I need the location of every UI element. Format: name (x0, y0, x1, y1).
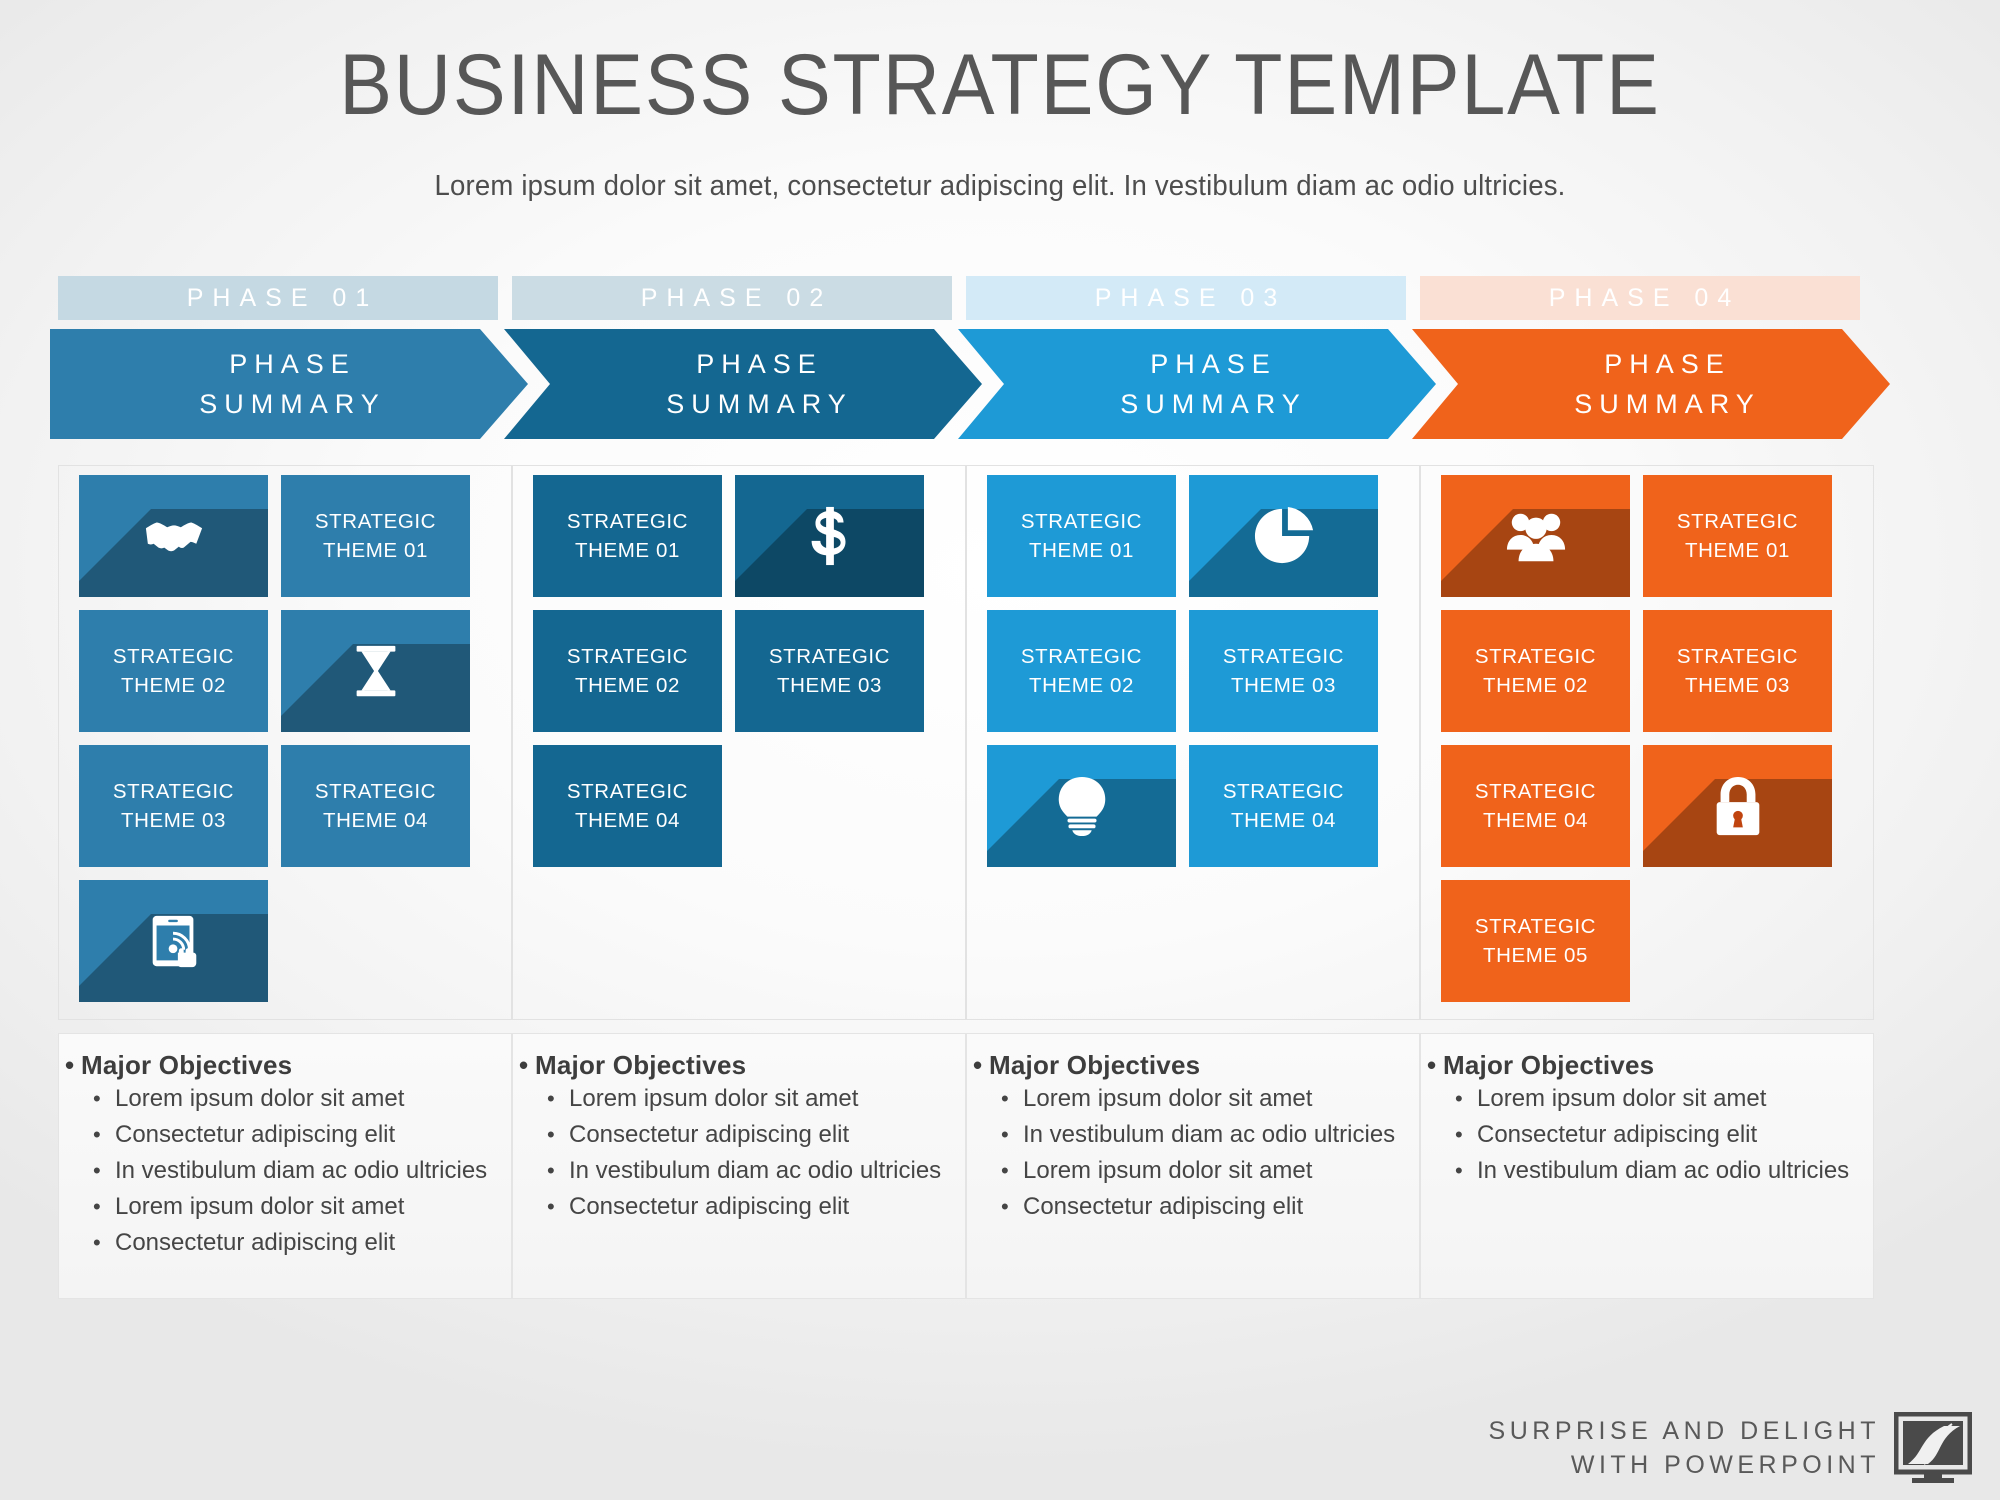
strategic-theme-label: STRATEGICTHEME 04 (567, 777, 688, 835)
objective-item: Lorem ipsum dolor sit amet (59, 1083, 511, 1119)
strategic-theme-tile[interactable]: STRATEGICTHEME 04 (1441, 745, 1630, 867)
tablet-touch-icon[interactable] (79, 880, 268, 1002)
phase-summary-arrow-2[interactable]: PHASESUMMARY (504, 329, 982, 439)
strategic-theme-label: STRATEGICTHEME 02 (113, 642, 234, 700)
strategic-theme-label: STRATEGICTHEME 04 (1475, 777, 1596, 835)
strategic-theme-label: STRATEGICTHEME 02 (567, 642, 688, 700)
phase-summary-line-1: PHASE (659, 344, 853, 384)
strategic-theme-label: STRATEGICTHEME 01 (1021, 507, 1142, 565)
strategic-theme-label: STRATEGICTHEME 04 (315, 777, 436, 835)
strategic-theme-label: STRATEGICTHEME 02 (1021, 642, 1142, 700)
lightbulb-icon-glyph (1046, 775, 1118, 837)
phase-band: PHASE 01PHASESUMMARYPHASE 02PHASESUMMARY… (0, 276, 2000, 466)
handshake-icon-glyph (138, 505, 210, 567)
phase-label-4[interactable]: PHASE 04 (1420, 276, 1860, 320)
objectives-title: Major Objectives (1421, 1034, 1873, 1083)
footer-line-2: WITH POWERPOINT (1489, 1448, 1880, 1482)
phase-column-4: PHASE 04PHASESUMMARY (1420, 276, 1860, 320)
strategic-theme-label: STRATEGICTHEME 01 (315, 507, 436, 565)
objectives-panel-4: Major ObjectivesLorem ipsum dolor sit am… (1420, 1033, 1874, 1299)
monitor-road-logo-icon (1894, 1412, 1972, 1484)
phase-label-1[interactable]: PHASE 01 (58, 276, 498, 320)
objective-item: Consectetur adipiscing elit (967, 1191, 1419, 1227)
phase-summary-line-2: SUMMARY (192, 384, 386, 424)
objective-item: In vestibulum diam ac odio ultricies (1421, 1155, 1873, 1191)
phase-column-3: PHASE 03PHASESUMMARY (966, 276, 1406, 320)
strategic-theme-label: STRATEGICTHEME 05 (1475, 912, 1596, 970)
objective-item: Consectetur adipiscing elit (513, 1191, 965, 1227)
theme-tile-grid-3: STRATEGICTHEME 01 STRATEGICTHEME 02STRAT… (987, 475, 1399, 1010)
page-title: BUSINESS STRATEGY TEMPLATE (80, 36, 1920, 135)
phase-label-2[interactable]: PHASE 02 (512, 276, 952, 320)
objective-item: In vestibulum diam ac odio ultricies (513, 1155, 965, 1191)
footer-text: SURPRISE AND DELIGHT WITH POWERPOINT (1489, 1414, 1880, 1482)
dollar-icon[interactable] (735, 475, 924, 597)
strategic-theme-label: STRATEGICTHEME 03 (769, 642, 890, 700)
objective-item: Lorem ipsum dolor sit amet (967, 1155, 1419, 1191)
hourglass-icon-glyph (340, 640, 412, 702)
strategic-theme-label: STRATEGICTHEME 03 (113, 777, 234, 835)
strategic-theme-tile[interactable]: STRATEGICTHEME 01 (281, 475, 470, 597)
footer-line-1: SURPRISE AND DELIGHT (1489, 1414, 1880, 1448)
people-group-icon[interactable] (1441, 475, 1630, 597)
strategic-theme-tile[interactable]: STRATEGICTHEME 05 (1441, 880, 1630, 1002)
strategic-theme-label: STRATEGICTHEME 01 (567, 507, 688, 565)
people-group-icon-glyph (1500, 505, 1572, 567)
strategic-theme-tile[interactable]: STRATEGICTHEME 04 (1189, 745, 1378, 867)
theme-tile-grid-2: STRATEGICTHEME 01 STRATEGICTHEME 02STRAT… (533, 475, 945, 1010)
objectives-panel-1: Major ObjectivesLorem ipsum dolor sit am… (58, 1033, 512, 1299)
strategic-theme-label: STRATEGICTHEME 03 (1677, 642, 1798, 700)
footer-branding: SURPRISE AND DELIGHT WITH POWERPOINT (1489, 1412, 1972, 1484)
theme-tile-grid-4: STRATEGICTHEME 01STRATEGICTHEME 02STRATE… (1441, 475, 1853, 1010)
handshake-icon[interactable] (79, 475, 268, 597)
objective-item: In vestibulum diam ac odio ultricies (59, 1155, 511, 1191)
phase-label-3[interactable]: PHASE 03 (966, 276, 1406, 320)
objectives-panel-2: Major ObjectivesLorem ipsum dolor sit am… (512, 1033, 966, 1299)
lightbulb-icon[interactable] (987, 745, 1176, 867)
theme-tile-grid-1: STRATEGICTHEME 01STRATEGICTHEME 02 STRAT… (79, 475, 491, 1010)
strategic-theme-tile[interactable]: STRATEGICTHEME 04 (281, 745, 470, 867)
strategic-theme-tile[interactable]: STRATEGICTHEME 03 (735, 610, 924, 732)
pie-chart-icon[interactable] (1189, 475, 1378, 597)
strategic-theme-tile[interactable]: STRATEGICTHEME 02 (1441, 610, 1630, 732)
objective-item: Lorem ipsum dolor sit amet (1421, 1083, 1873, 1119)
strategic-theme-tile[interactable]: STRATEGICTHEME 01 (1643, 475, 1832, 597)
hourglass-icon[interactable] (281, 610, 470, 732)
phase-summary-line-1: PHASE (1113, 344, 1307, 384)
strategic-theme-tile[interactable]: STRATEGICTHEME 01 (987, 475, 1176, 597)
strategic-theme-tile[interactable]: STRATEGICTHEME 01 (533, 475, 722, 597)
objectives-panel-3: Major ObjectivesLorem ipsum dolor sit am… (966, 1033, 1420, 1299)
strategic-theme-label: STRATEGICTHEME 03 (1223, 642, 1344, 700)
lock-icon-glyph (1702, 775, 1774, 837)
strategic-theme-tile[interactable]: STRATEGICTHEME 02 (533, 610, 722, 732)
objective-item: Consectetur adipiscing elit (513, 1119, 965, 1155)
phase-summary-line-1: PHASE (192, 344, 386, 384)
strategic-theme-tile[interactable]: STRATEGICTHEME 02 (79, 610, 268, 732)
pie-chart-icon-glyph (1248, 505, 1320, 567)
phase-column-2: PHASE 02PHASESUMMARY (512, 276, 952, 320)
objective-item: Consectetur adipiscing elit (59, 1119, 511, 1155)
objective-item: Consectetur adipiscing elit (1421, 1119, 1873, 1155)
objectives-title: Major Objectives (513, 1034, 965, 1083)
objectives-title: Major Objectives (967, 1034, 1419, 1083)
phase-summary-arrow-1[interactable]: PHASESUMMARY (50, 329, 528, 439)
phase-summary-line-2: SUMMARY (1567, 384, 1761, 424)
strategic-theme-tile[interactable]: STRATEGICTHEME 03 (1643, 610, 1832, 732)
strategic-theme-label: STRATEGICTHEME 04 (1223, 777, 1344, 835)
strategic-theme-tile[interactable]: STRATEGICTHEME 03 (1189, 610, 1378, 732)
phase-column-1: PHASE 01PHASESUMMARY (58, 276, 498, 320)
phase-summary-line-1: PHASE (1567, 344, 1761, 384)
objective-item: Lorem ipsum dolor sit amet (513, 1083, 965, 1119)
strategic-theme-tile[interactable]: STRATEGICTHEME 02 (987, 610, 1176, 732)
objective-item: In vestibulum diam ac odio ultricies (967, 1119, 1419, 1155)
phase-summary-line-2: SUMMARY (1113, 384, 1307, 424)
objective-item: Lorem ipsum dolor sit amet (59, 1191, 511, 1227)
objective-item: Consectetur adipiscing elit (59, 1227, 511, 1263)
strategic-theme-tile[interactable]: STRATEGICTHEME 03 (79, 745, 268, 867)
page-subtitle: Lorem ipsum dolor sit amet, consectetur … (50, 170, 1950, 203)
phase-summary-line-2: SUMMARY (659, 384, 853, 424)
phase-summary-arrow-3[interactable]: PHASESUMMARY (958, 329, 1436, 439)
strategic-theme-label: STRATEGICTHEME 02 (1475, 642, 1596, 700)
strategic-theme-tile[interactable]: STRATEGICTHEME 04 (533, 745, 722, 867)
objective-item: Lorem ipsum dolor sit amet (967, 1083, 1419, 1119)
objectives-title: Major Objectives (59, 1034, 511, 1083)
phase-summary-arrow-4[interactable]: PHASESUMMARY (1412, 329, 1890, 439)
dollar-icon-glyph (794, 505, 866, 567)
tablet-touch-icon-glyph (138, 910, 210, 972)
strategic-theme-label: STRATEGICTHEME 01 (1677, 507, 1798, 565)
lock-icon[interactable] (1643, 745, 1832, 867)
